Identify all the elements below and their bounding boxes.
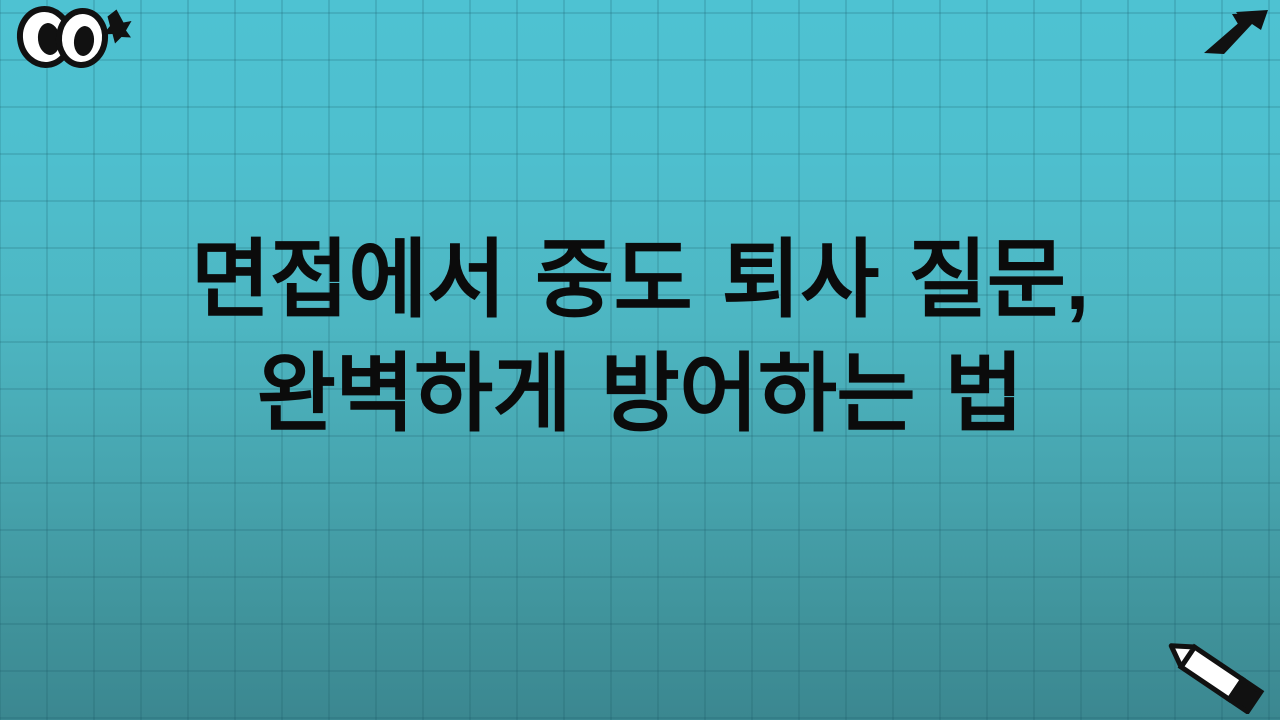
arrow-down-left-icon bbox=[1198, 4, 1274, 62]
page-title-line-2: 완벽하게 방어하는 법 bbox=[40, 338, 1240, 452]
thumbnail-canvas: 면접에서 중도 퇴사 질문, 완벽하게 방어하는 법 bbox=[0, 0, 1280, 720]
eyes-star-logo bbox=[12, 4, 132, 74]
page-title: 면접에서 중도 퇴사 질문, 완벽하게 방어하는 법 bbox=[0, 224, 1280, 451]
page-title-line-1: 면접에서 중도 퇴사 질문, bbox=[40, 224, 1240, 338]
pencil-icon bbox=[1158, 638, 1274, 714]
eye-right-icon bbox=[56, 9, 107, 68]
